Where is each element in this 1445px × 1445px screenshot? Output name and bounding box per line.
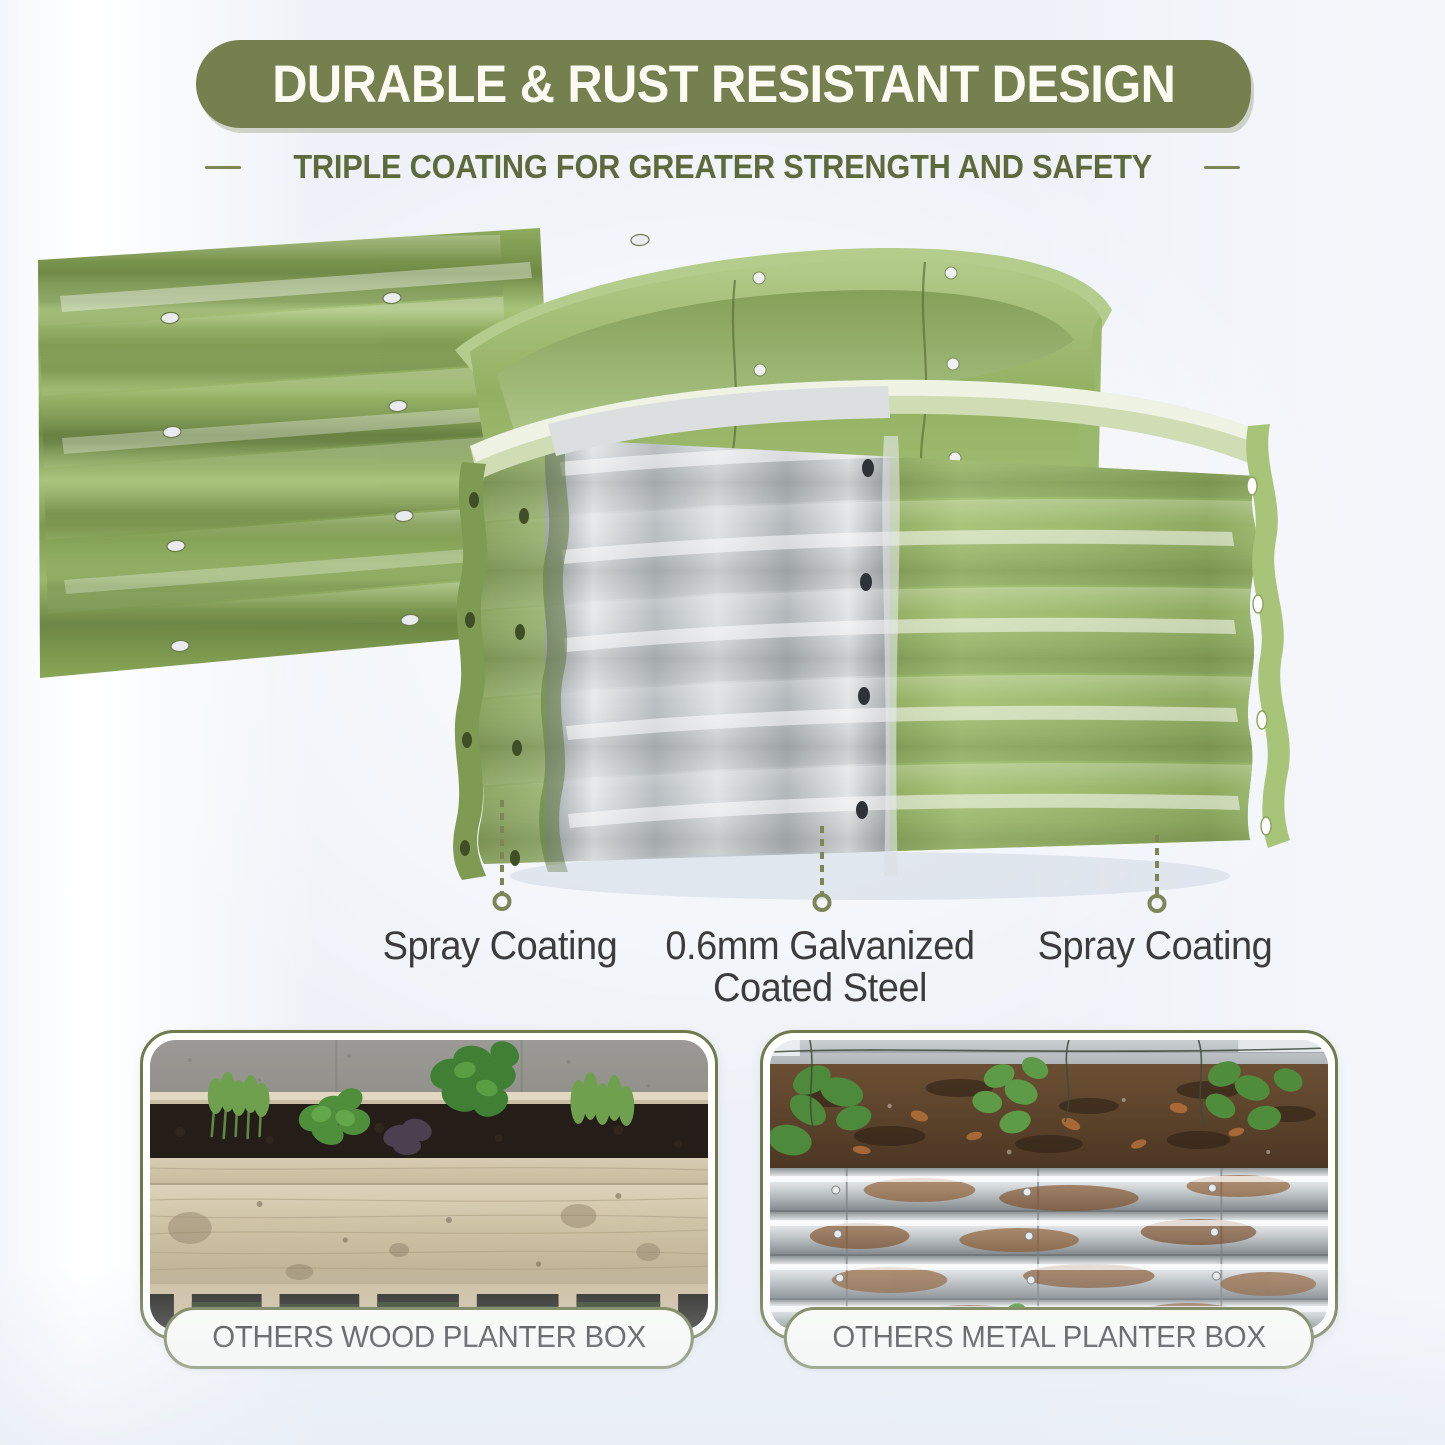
- callout-label-spray-coating-left: Spray Coating: [358, 925, 643, 967]
- dash-left-icon: [205, 166, 241, 169]
- page-subtitle: TRIPLE COATING FOR GREATER STRENGTH AND …: [293, 148, 1152, 186]
- leader-ring-marker: [813, 893, 832, 912]
- card-caption-text: OTHERS WOOD PLANTER BOX: [212, 1319, 646, 1355]
- leader-dots: [1155, 835, 1159, 897]
- leader-line-galvanized-steel: [820, 826, 824, 896]
- leader-dots: [820, 826, 824, 896]
- subtitle-row: TRIPLE COATING FOR GREATER STRENGTH AND …: [0, 148, 1445, 186]
- header-banner: DURABLE & RUST RESISTANT DESIGN: [196, 40, 1251, 128]
- card-caption-text: OTHERS METAL PLANTER BOX: [832, 1319, 1265, 1355]
- comparison-card-metal: OTHERS METAL PLANTER BOX: [760, 1030, 1338, 1340]
- callout-text-line2: Coated Steel: [659, 967, 982, 1009]
- callout-text: Spray Coating: [1013, 925, 1298, 967]
- callout-label-galvanized-steel: 0.6mm Galvanized Coated Steel: [659, 925, 982, 1009]
- leader-line-spray-coating-right: [1155, 835, 1159, 897]
- leader-ring-marker: [1148, 894, 1167, 913]
- rusted-metal-planter-box-photo: [770, 1040, 1328, 1330]
- card-caption-metal: OTHERS METAL PLANTER BOX: [784, 1307, 1314, 1369]
- leader-line-spray-coating-left: [500, 800, 504, 895]
- leader-dots: [500, 800, 504, 895]
- product-illustration: [0, 200, 1445, 900]
- callout-text: Spray Coating: [358, 925, 643, 967]
- leader-ring-marker: [493, 892, 512, 911]
- callout-text-line1: 0.6mm Galvanized: [659, 925, 982, 967]
- raised-bed-graphic: [0, 200, 1445, 900]
- rusted-corrugation: [770, 1168, 1328, 1330]
- wood-planter-box-photo: [150, 1040, 708, 1330]
- dash-right-icon: [1204, 166, 1240, 169]
- page-title: DURABLE & RUST RESISTANT DESIGN: [272, 54, 1175, 115]
- comparison-card-wood: OTHERS WOOD PLANTER BOX: [140, 1030, 718, 1340]
- comparison-cards: OTHERS WOOD PLANTER BOX: [0, 1030, 1445, 1410]
- card-caption-wood: OTHERS WOOD PLANTER BOX: [164, 1307, 694, 1369]
- callout-label-spray-coating-right: Spray Coating: [1013, 925, 1298, 967]
